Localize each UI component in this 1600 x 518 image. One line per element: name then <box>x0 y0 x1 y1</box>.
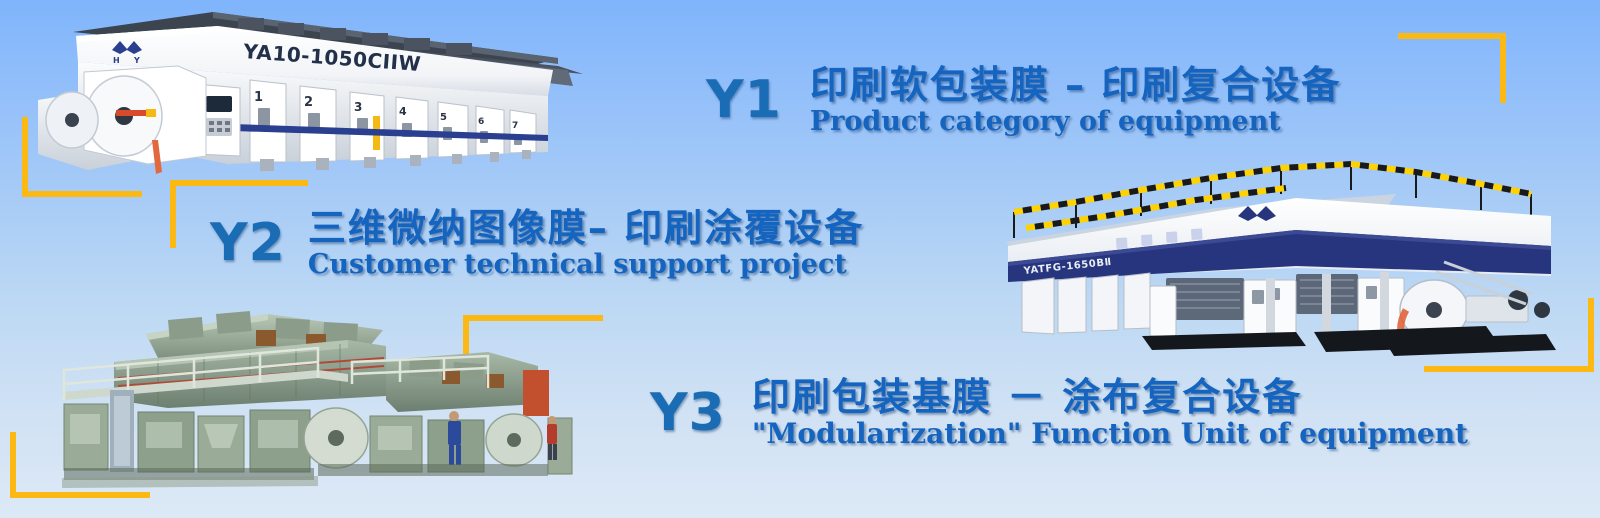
bracket-top-right <box>1398 33 1506 103</box>
entry-y2: Y2三维微纳图像膜– 印刷涂覆设备Customer technical supp… <box>210 207 864 279</box>
entry-y3: Y3印刷包装基膜 － 涂布复合设备"Modularization" Functi… <box>650 376 1468 449</box>
svg-text:6: 6 <box>478 117 484 127</box>
entry-y3-chinese-heading: 印刷包装基膜 － 涂布复合设备 <box>752 376 1468 419</box>
entry-y1-chinese-heading: 印刷软包装膜 – 印刷复合设备 <box>810 64 1341 107</box>
svg-text:Y: Y <box>133 56 140 65</box>
svg-text:3: 3 <box>354 100 362 114</box>
entry-y3-code: Y3 <box>650 383 726 443</box>
machine-image-base-film-line <box>18 300 578 490</box>
machine-image-coating-line: YATFG-1650BⅡ <box>966 150 1566 360</box>
entry-y2-chinese-heading: 三维微纳图像膜– 印刷涂覆设备 <box>308 207 864 250</box>
entry-y2-english-subheading: Customer technical support project <box>308 250 864 280</box>
svg-text:2: 2 <box>304 95 313 110</box>
entry-y2-lines: 三维微纳图像膜– 印刷涂覆设备Customer technical suppor… <box>308 207 864 279</box>
equipment-banner: H Y YA10-1050CIIW <box>0 0 1600 518</box>
entry-y1-lines: 印刷软包装膜 – 印刷复合设备Product category of equip… <box>810 64 1341 136</box>
entry-y1-code: Y1 <box>706 70 782 130</box>
svg-text:H: H <box>113 56 120 65</box>
entry-y2-code: Y2 <box>210 213 286 273</box>
machine-image-printing-press: H Y YA10-1050CIIW <box>28 4 598 189</box>
entry-y3-english-subheading: "Modularization" Function Unit of equipm… <box>752 419 1468 450</box>
svg-text:5: 5 <box>440 112 447 123</box>
svg-text:1: 1 <box>254 90 263 105</box>
entry-y1: Y1印刷软包装膜 – 印刷复合设备Product category of equ… <box>706 64 1341 136</box>
entry-y3-lines: 印刷包装基膜 － 涂布复合设备"Modularization" Function… <box>752 376 1468 449</box>
svg-text:7: 7 <box>512 121 518 131</box>
entry-y1-english-subheading: Product category of equipment <box>810 107 1341 137</box>
svg-text:4: 4 <box>399 105 407 118</box>
